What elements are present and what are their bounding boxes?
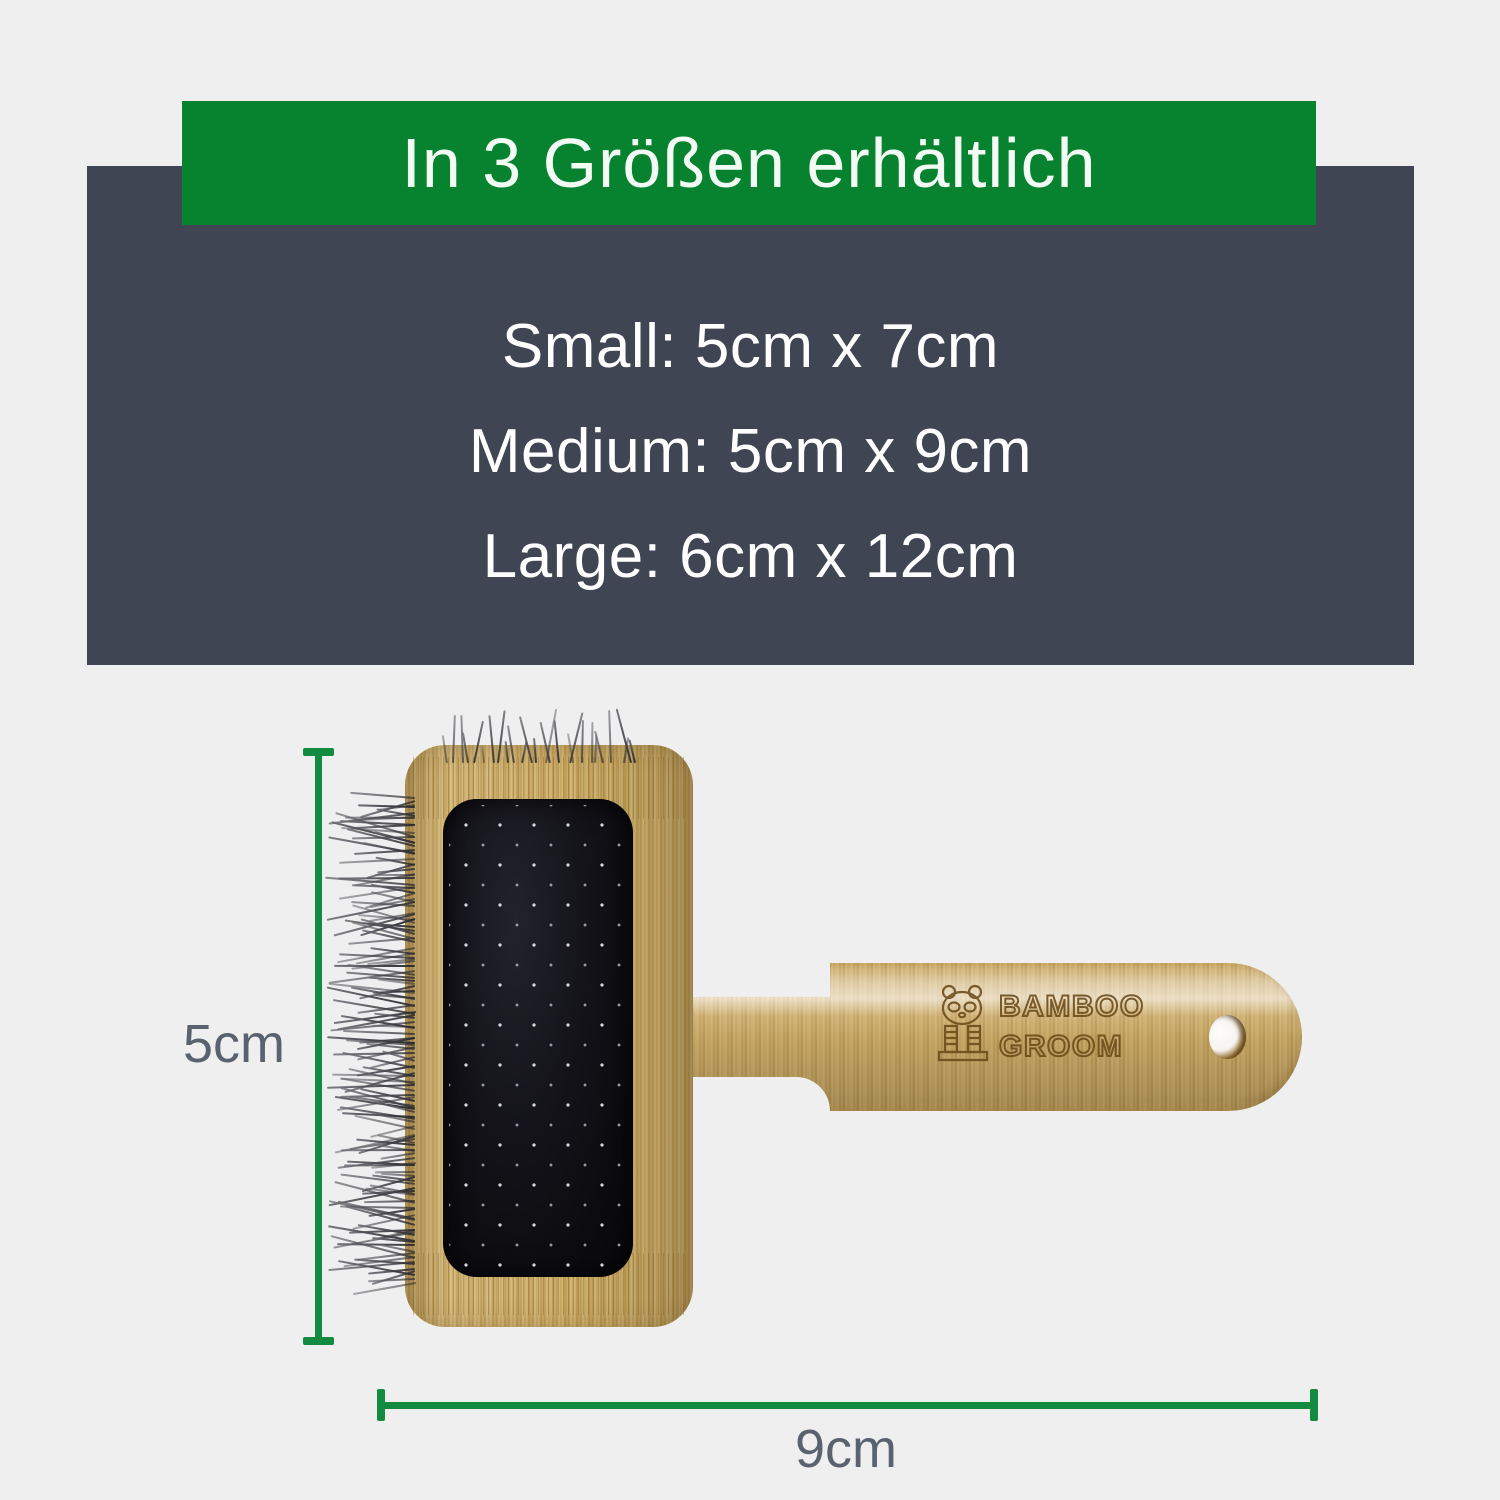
width-measure-label: 9cm: [795, 1418, 897, 1480]
width-measure-cap-left: [377, 1389, 385, 1421]
brush-pin: [533, 738, 537, 763]
brush-pin: [334, 964, 415, 966]
brand-logo: BAMBOO GROOM: [935, 982, 1167, 1074]
brush-pin: [452, 715, 455, 763]
brush-pin: [554, 720, 560, 763]
brush-pin: [375, 874, 415, 876]
size-line-small: Small: 5cm x 7cm: [87, 294, 1414, 399]
brush-pin: [497, 710, 505, 763]
brush-head: [405, 745, 693, 1327]
brush-pin: [504, 741, 508, 763]
size-info-panel: Small: 5cm x 7cm Medium: 5cm x 9cm Large…: [87, 166, 1414, 665]
brush-pin: [581, 720, 584, 763]
brush-pin: [518, 716, 532, 763]
rubber-pin-pad: [443, 799, 633, 1277]
width-measure-line: [378, 1402, 1317, 1409]
height-measure-cap-bottom: [303, 1337, 334, 1345]
hanging-hole: [1209, 1015, 1246, 1059]
size-line-medium: Medium: 5cm x 9cm: [87, 399, 1414, 504]
brush-pin: [343, 1030, 415, 1035]
brush-pin: [488, 715, 494, 763]
height-measure-cap-top: [303, 748, 334, 756]
top-pin-fringe: [445, 703, 635, 763]
height-measure-label: 5cm: [183, 1013, 285, 1075]
width-measure-cap-right: [1310, 1389, 1318, 1421]
brush-pin: [591, 722, 593, 763]
size-line-large: Large: 6cm x 12cm: [87, 504, 1414, 609]
brush-pin: [608, 710, 611, 763]
side-pin-fringe: [319, 797, 415, 1281]
brush-pin: [507, 725, 515, 763]
size-list: Small: 5cm x 7cm Medium: 5cm x 9cm Large…: [87, 294, 1414, 609]
headline-banner: In 3 Größen erhältlich: [182, 101, 1316, 225]
brush-pin: [341, 1149, 415, 1151]
brand-text-line-1: BAMBOO: [999, 990, 1145, 1023]
banner-title: In 3 Größen erhältlich: [401, 123, 1096, 203]
pin-tip-field: [449, 805, 627, 1271]
brush-pin: [481, 746, 484, 763]
panda-icon: [939, 986, 987, 1060]
brand-text-line-2: GROOM: [999, 1030, 1123, 1063]
infographic-canvas: Small: 5cm x 7cm Medium: 5cm x 9cm Large…: [0, 0, 1500, 1500]
